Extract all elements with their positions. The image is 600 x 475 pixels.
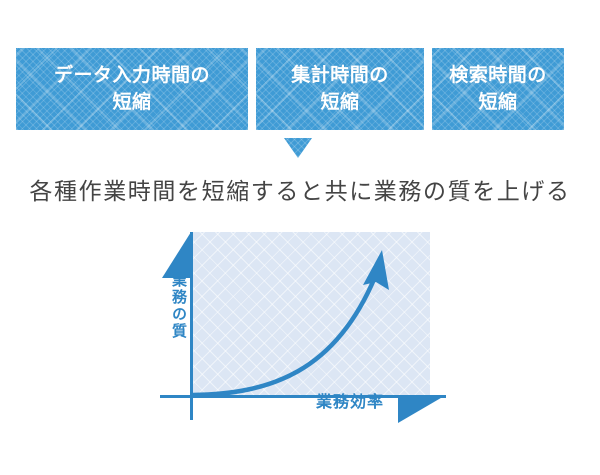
benefit-box-label: 検索時間の 短縮 [449, 62, 547, 116]
infographic-canvas: データ入力時間の 短縮 集計時間の 短縮 検索時間の 短縮 各種作業時間を短縮す… [0, 0, 600, 475]
downward-triangle-icon [284, 138, 312, 158]
growth-curve-arrowhead-icon [363, 250, 389, 290]
quality-vs-efficiency-chart: 業務の質 業務効率 [150, 222, 450, 422]
headline-text: 各種作業時間を短縮すると共に業務の質を上げる [0, 172, 600, 206]
benefit-box-aggregation-time-reduction: 集計時間の 短縮 [256, 48, 424, 130]
y-axis-label: 業務の質 [160, 272, 186, 340]
growth-curve-path [193, 277, 375, 395]
x-axis-label: 業務効率 [316, 388, 384, 412]
benefit-box-data-entry-time-reduction: データ入力時間の 短縮 [16, 48, 248, 130]
benefit-box-search-time-reduction: 検索時間の 短縮 [432, 48, 564, 130]
growth-curve [150, 222, 450, 422]
benefit-box-label: データ入力時間の 短縮 [54, 62, 210, 116]
benefit-box-label: 集計時間の 短縮 [291, 62, 389, 116]
